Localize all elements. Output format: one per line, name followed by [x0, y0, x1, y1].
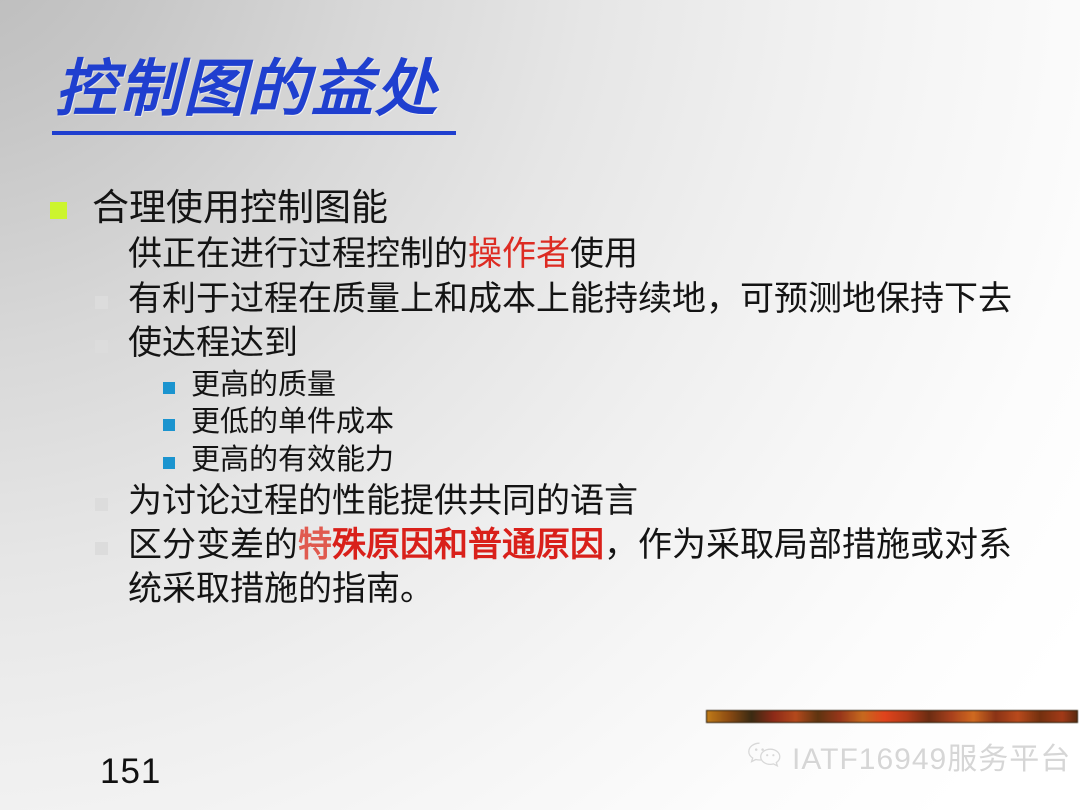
page-title: 控制图的益处	[55, 58, 439, 123]
bullet-text: 更低的单件成本	[191, 404, 1038, 442]
plain-text: 供正在进行过程控制的	[128, 236, 468, 273]
bullet-level2: 使达程达到	[95, 322, 1038, 366]
highlight-text: 操作者	[468, 236, 570, 273]
bullet-text: 区分变差的特殊原因和普通原因，作为采取局部措施或对系统采取措施的指南。	[128, 524, 1038, 611]
decorative-bar	[706, 710, 1078, 723]
bullet-level2: 为讨论过程的性能提供共同的语言	[95, 480, 1038, 524]
bullet-marker-level2	[95, 498, 108, 511]
bullet-text: 更高的质量	[191, 367, 1038, 405]
slide-canvas: 控制图的益处 合理使用控制图能 供正在进行过程控制的操作者使用有利于过程在质量上…	[0, 0, 1080, 810]
bullet-sub-items: 供正在进行过程控制的操作者使用有利于过程在质量上和成本上能持续地，可预测地保持下…	[48, 233, 1038, 611]
bullet-level2: 区分变差的特殊原因和普通原因，作为采取局部措施或对系统采取措施的指南。	[95, 524, 1038, 611]
bullet-level1-text: 合理使用控制图能	[92, 186, 1038, 231]
page-number: 151	[100, 752, 161, 792]
bullet-text: 为讨论过程的性能提供共同的语言	[128, 480, 1038, 524]
highlight-text: 特	[298, 527, 332, 564]
bullet-text: 供正在进行过程控制的操作者使用	[128, 233, 1038, 277]
bullet-marker-level2	[95, 296, 108, 309]
bullet-level3: 更高的有效能力	[163, 442, 1038, 480]
bullet-level3: 更低的单件成本	[163, 404, 1038, 442]
wechat-icon	[746, 740, 784, 773]
plain-text: 更低的单件成本	[191, 406, 394, 438]
bullet-level1: 合理使用控制图能	[48, 186, 1038, 231]
plain-text: 有利于过程在质量上和成本上能持续地，可预测地保持下去	[128, 281, 1012, 318]
bullet-text: 更高的有效能力	[191, 442, 1038, 480]
title-underline	[52, 131, 456, 135]
bullet-level2: 供正在进行过程控制的操作者使用	[95, 233, 1038, 277]
bullet-level3: 更高的质量	[163, 367, 1038, 405]
bullet-marker-level2	[95, 542, 108, 555]
bullet-marker-level1	[50, 202, 67, 219]
bullet-level2: 有利于过程在质量上和成本上能持续地，可预测地保持下去	[95, 278, 1038, 322]
plain-text: 为讨论过程的性能提供共同的语言	[128, 483, 638, 520]
watermark: IATF16949服务平台	[700, 710, 1080, 796]
plain-text: 更高的有效能力	[191, 444, 394, 476]
watermark-text: IATF16949服务平台	[792, 734, 1071, 778]
bullet-text: 有利于过程在质量上和成本上能持续地，可预测地保持下去	[128, 278, 1038, 322]
bullet-marker-level3	[163, 382, 175, 394]
watermark-row: IATF16949服务平台	[746, 734, 1071, 778]
bullet-marker-level3	[163, 419, 175, 431]
bullet-text: 使达程达到	[128, 322, 1038, 366]
plain-text: 更高的质量	[191, 369, 336, 401]
bullet-marker-level2	[95, 340, 108, 353]
highlight-text: 殊原因和普通原因	[332, 527, 604, 564]
plain-text: 使用	[570, 236, 638, 273]
plain-text: 使达程达到	[128, 325, 298, 362]
plain-text: 区分变差的	[128, 527, 298, 564]
bullet-list: 合理使用控制图能 供正在进行过程控制的操作者使用有利于过程在质量上和成本上能持续…	[48, 186, 1038, 612]
bullet-marker-level3	[163, 457, 175, 469]
bullet-marker-level2	[95, 251, 108, 264]
